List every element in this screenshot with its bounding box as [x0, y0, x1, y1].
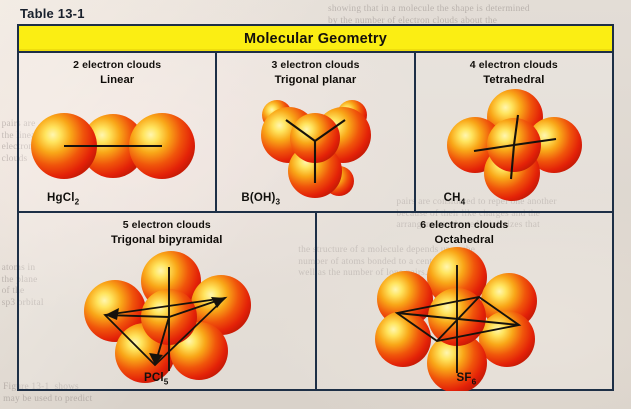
- table-row: 2 electron clouds Linear: [19, 53, 612, 213]
- cell-clouds-label: 6 electron clouds: [317, 219, 613, 231]
- cell-clouds-label: 5 electron clouds: [19, 219, 315, 231]
- model-tetrahedral: [440, 87, 590, 199]
- cell-shape-label: Trigonal bipyramidal: [19, 234, 315, 246]
- cell-trigonal-planar: 3 electron clouds Trigonal planar: [215, 53, 413, 211]
- table-title-bar: Molecular Geometry: [19, 26, 612, 53]
- cell-clouds-label: 2 electron clouds: [19, 59, 215, 71]
- cell-clouds-label: 4 electron clouds: [416, 59, 612, 71]
- cell-shape-label: Octahedral: [317, 234, 613, 246]
- model-trigonal-bipyramidal: [79, 253, 264, 383]
- cell-linear: 2 electron clouds Linear: [19, 53, 215, 211]
- cell-tetrahedral: 4 electron clouds Tetrahedral: [414, 53, 612, 211]
- cell-trigonal-bipyramidal: 5 electron clouds Trigonal bipyramidal: [19, 213, 315, 391]
- cell-shape-label: Trigonal planar: [217, 74, 413, 86]
- cell-header: 6 electron clouds Octahedral: [317, 219, 613, 246]
- model-trigonal-planar: [239, 91, 389, 196]
- cell-formula: SF6: [457, 372, 477, 386]
- cell-formula: HgCl2: [47, 192, 79, 206]
- table-row: 5 electron clouds Trigonal bipyramidal: [19, 213, 612, 391]
- cell-shape-label: Tetrahedral: [416, 74, 612, 86]
- cell-clouds-label: 3 electron clouds: [217, 59, 413, 71]
- model-octahedral: [369, 251, 554, 383]
- cell-octahedral: 6 electron clouds Octahedral: [315, 213, 613, 391]
- cell-header: 2 electron clouds Linear: [19, 59, 215, 86]
- table-title: Molecular Geometry: [244, 31, 387, 47]
- cell-header: 5 electron clouds Trigonal bipyramidal: [19, 219, 315, 246]
- cell-header: 4 electron clouds Tetrahedral: [416, 59, 612, 86]
- cell-formula: PCl5: [144, 372, 169, 386]
- molecular-geometry-table: Molecular Geometry 2 electron clouds Lin…: [17, 24, 614, 391]
- table-label: Table 13-1: [20, 6, 85, 21]
- cell-formula: CH4: [444, 192, 466, 206]
- cell-formula: B(OH)3: [241, 192, 280, 206]
- cell-header: 3 electron clouds Trigonal planar: [217, 59, 413, 86]
- model-linear: [29, 103, 199, 188]
- cell-shape-label: Linear: [19, 74, 215, 86]
